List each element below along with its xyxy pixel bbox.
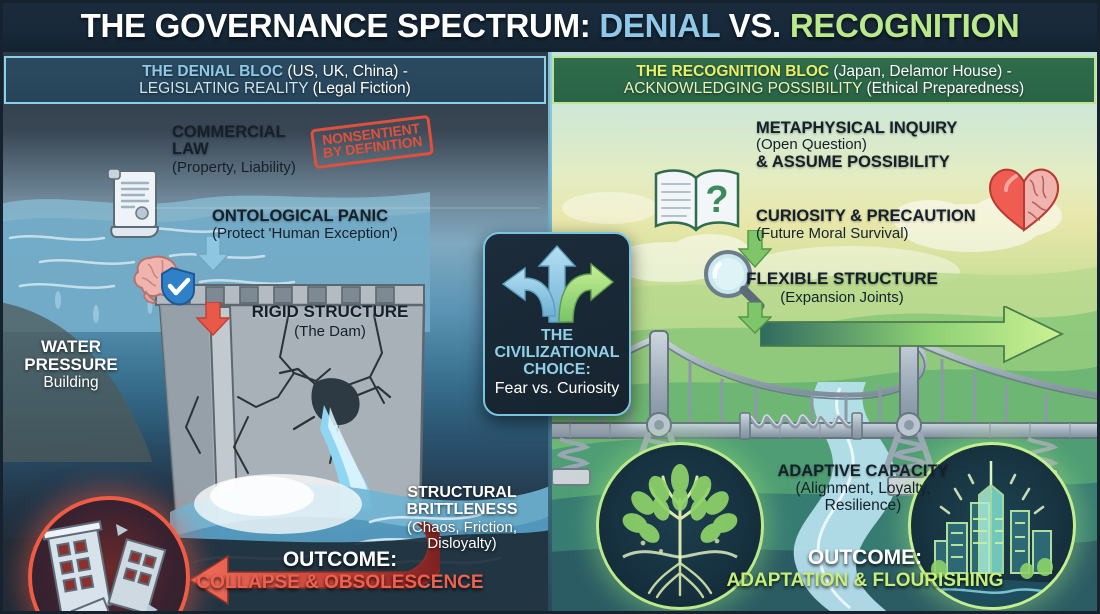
svg-text:?: ? xyxy=(705,179,728,221)
choice-line3: CHOICE: xyxy=(494,362,619,379)
assume-possibility-title: & ASSUME POSSIBILITY xyxy=(756,154,966,172)
left-outcome-label: OUTCOME: xyxy=(190,548,490,572)
brittleness-line3: (Chaos, Friction, xyxy=(382,520,542,536)
denial-header-strong2: LEGISLATING REALITY xyxy=(139,80,308,97)
recognition-header-strong2: ACKNOWLEDGING POSSIBILITY xyxy=(624,80,862,97)
adaptive-line3: Resilience) xyxy=(748,497,978,514)
flexible-structure-title: FLEXIBLE STRUCTURE xyxy=(712,270,972,288)
down-arrow-step2-green-icon xyxy=(738,302,772,334)
brittleness-line2: BRITTLENESS xyxy=(382,501,542,518)
metaphysical-inquiry-title: METAPHYSICAL INQUIRY xyxy=(756,120,966,137)
left-outcome-value: COLLAPSE & OBSOLESCENCE xyxy=(190,572,490,593)
right-outcome-block: OUTCOME: ADAPTATION & FLOURISHING xyxy=(720,546,1010,591)
curiosity-precaution-title: CURIOSITY & PRECAUTION xyxy=(756,208,986,225)
denial-header-line1: THE DENIAL BLOC (US, UK, China) - xyxy=(142,63,408,80)
title-bar: THE GOVERNANCE SPECTRUM: DENIAL VS. RECO… xyxy=(0,0,1100,52)
adaptive-arrow-icon[interactable] xyxy=(760,306,1070,364)
metaphysical-inquiry-subtitle: (Open Question) xyxy=(756,137,966,154)
infographic-canvas: THE GOVERNANCE SPECTRUM: DENIAL VS. RECO… xyxy=(0,0,1100,614)
denial-header-rest: (US, UK, China) - xyxy=(283,63,408,80)
right-outcome-value: ADAPTATION & FLOURISHING xyxy=(720,570,1010,591)
recognition-header-rest2: (Ethical Preparedness) xyxy=(862,80,1024,97)
choice-line4: Fear vs. Curiosity xyxy=(494,381,619,398)
adaptive-capacity-label: ADAPTIVE CAPACITY (Alignment, Loyalty, R… xyxy=(748,462,978,514)
rigid-structure-subtitle: (The Dam) xyxy=(215,323,445,340)
right-outcome-label: OUTCOME: xyxy=(720,546,1010,570)
brittleness-line1: STRUCTURAL xyxy=(382,484,542,501)
title-main: THE GOVERNANCE SPECTRUM: xyxy=(81,7,591,44)
ontological-panic-title: ONTOLOGICAL PANIC xyxy=(212,208,472,225)
recognition-header-line2: ACKNOWLEDGING POSSIBILITY (Ethical Prepa… xyxy=(624,80,1024,97)
left-outcome-block: OUTCOME: COLLAPSE & OBSOLESCENCE xyxy=(190,548,490,593)
flexible-structure-label: FLEXIBLE STRUCTURE (Expansion Joints) xyxy=(712,270,972,306)
civilizational-choice-box[interactable]: THE CIVILIZATIONAL CHOICE: Fear vs. Curi… xyxy=(483,232,631,416)
rigid-structure-label: RIGID STRUCTURE (The Dam) xyxy=(215,302,445,340)
recognition-bloc-header: THE RECOGNITION BLOC (Japan, Delamor Hou… xyxy=(552,56,1096,104)
adaptive-line2: (Alignment, Loyalty, xyxy=(748,480,978,497)
curiosity-precaution-subtitle: (Future Moral Survival) xyxy=(756,226,986,243)
title-vs: VS. xyxy=(729,7,781,44)
denial-header-strong: THE DENIAL BLOC xyxy=(142,63,283,80)
commercial-law-label: COMMERCIAL LAW (Property, Liability) xyxy=(172,124,322,176)
metaphysical-inquiry-label: METAPHYSICAL INQUIRY (Open Question) & A… xyxy=(756,120,966,172)
adaptive-line1: ADAPTIVE CAPACITY xyxy=(748,462,978,480)
three-way-arrow-fork-icon xyxy=(497,244,617,326)
ontological-panic-subtitle: (Protect 'Human Exception') xyxy=(212,226,472,243)
scroll-document-icon xyxy=(104,167,166,239)
denial-header-rest2: (Legal Fiction) xyxy=(308,80,411,97)
recognition-header-line1: THE RECOGNITION BLOC (Japan, Delamor Hou… xyxy=(636,63,1012,80)
flexible-structure-subtitle: (Expansion Joints) xyxy=(712,289,972,306)
curiosity-precaution-label: CURIOSITY & PRECAUTION (Future Moral Sur… xyxy=(756,208,986,243)
water-pressure-line3: Building xyxy=(8,375,134,391)
recognition-header-strong: THE RECOGNITION BLOC xyxy=(636,63,829,80)
open-book-question-icon: ? xyxy=(650,164,744,236)
commercial-law-title: COMMERCIAL LAW xyxy=(172,124,322,159)
water-pressure-line1: WATER xyxy=(8,338,134,356)
structural-brittleness-label: STRUCTURAL BRITTLENESS (Chaos, Friction,… xyxy=(382,484,542,552)
choice-line2: CIVILIZATIONAL xyxy=(494,345,619,362)
ontological-panic-label: ONTOLOGICAL PANIC (Protect 'Human Except… xyxy=(212,208,472,243)
choice-line1: THE xyxy=(494,328,619,345)
water-pressure-label: WATER PRESSURE Building xyxy=(8,338,134,391)
brain-shield-icon xyxy=(132,248,204,306)
recognition-header-rest: (Japan, Delamor House) - xyxy=(829,63,1012,80)
title-denial: DENIAL xyxy=(599,7,719,44)
denial-header-line2: LEGISLATING REALITY (Legal Fiction) xyxy=(139,80,411,97)
commercial-law-subtitle: (Property, Liability) xyxy=(172,160,322,177)
water-pressure-line2: PRESSURE xyxy=(8,356,134,374)
page-title: THE GOVERNANCE SPECTRUM: DENIAL VS. RECO… xyxy=(81,7,1020,45)
heart-brain-icon xyxy=(988,166,1060,234)
denial-bloc-header: THE DENIAL BLOC (US, UK, China) - LEGISL… xyxy=(4,56,546,104)
title-recognition: RECOGNITION xyxy=(790,7,1020,44)
rigid-structure-title: RIGID STRUCTURE xyxy=(215,302,445,322)
choice-text-block: THE CIVILIZATIONAL CHOICE: Fear vs. Curi… xyxy=(494,328,619,398)
